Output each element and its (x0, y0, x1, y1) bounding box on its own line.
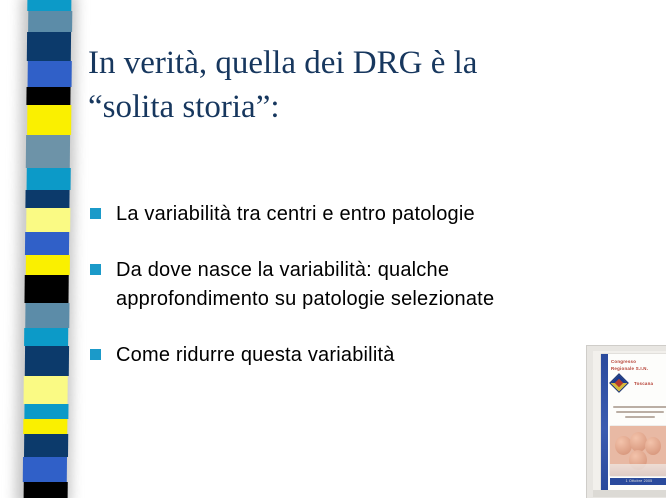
decorative-color-ribbon (23, 0, 72, 498)
baby-figure (630, 432, 647, 452)
poster-mount: Congresso Regionale S.I.N. Toscana 1 Ott… (593, 351, 666, 497)
stripe-color-band (27, 105, 71, 135)
stripe-color-band (27, 168, 71, 190)
newborn-babies-photo (610, 426, 666, 476)
square-bullet-icon (90, 349, 101, 360)
poster-fineprint-line (616, 411, 664, 413)
stripe-color-band (26, 208, 70, 231)
photo-bedding (610, 464, 666, 476)
stripe-color-band (25, 303, 69, 328)
square-bullet-icon (90, 208, 101, 219)
stripe-color-band (27, 32, 71, 60)
presentation-slide: In verità, quella dei DRG è la “solita s… (0, 0, 666, 498)
list-item: Come ridurre questa variabilità (90, 341, 610, 369)
stripe-color-band (24, 434, 68, 457)
stripe-color-band (23, 419, 67, 434)
stripe-color-band (24, 482, 68, 498)
stripe-color-band (24, 376, 68, 404)
stripe-color-band (24, 404, 68, 419)
list-item: La variabilità tra centri e entro patolo… (90, 200, 610, 228)
stripe-color-band (25, 346, 69, 376)
stripe-color-band (28, 61, 72, 88)
list-item-label: Come ridurre questa variabilità (116, 341, 610, 369)
bullet-list: La variabilità tra centri e entro patolo… (90, 200, 610, 398)
poster-page: Congresso Regionale S.I.N. Toscana 1 Ott… (601, 354, 666, 490)
poster-fineprint-line (625, 416, 655, 418)
sin-diamond-logo-icon (609, 373, 629, 393)
poster-bottom-strip (593, 490, 666, 497)
poster-fineprint-line (613, 406, 666, 408)
poster-title: Congresso Regionale S.I.N. (611, 359, 666, 372)
stripe-color-band (26, 255, 70, 275)
stripe-color-band (24, 275, 68, 303)
list-item-label: La variabilità tra centri e entro patolo… (116, 200, 610, 228)
baby-figure (645, 437, 661, 455)
stripe-color-band (23, 457, 67, 482)
slide-title: In verità, quella dei DRG è la “solita s… (88, 42, 608, 130)
poster-region-label: Toscana (634, 381, 653, 386)
stripe-color-band (27, 0, 71, 11)
poster-left-bar (601, 354, 608, 490)
square-bullet-icon (90, 264, 101, 275)
decorative-stripe-region (0, 0, 96, 498)
congress-poster-image: Congresso Regionale S.I.N. Toscana 1 Ott… (586, 345, 666, 498)
stripe-color-band (25, 190, 69, 208)
list-item: Da dove nasce la variabilità: qualche ap… (90, 256, 610, 313)
stripe-color-band (26, 87, 70, 105)
stripe-color-band (28, 11, 72, 33)
poster-footer-label: 1 Ottobre 2005 (610, 478, 666, 485)
list-item-label: Da dove nasce la variabilità: qualche ap… (116, 256, 610, 313)
stripe-color-band (26, 135, 70, 168)
stripe-color-band (25, 232, 69, 255)
stripe-color-band (24, 328, 68, 346)
poster-footer-bar: 1 Ottobre 2005 (610, 478, 666, 485)
